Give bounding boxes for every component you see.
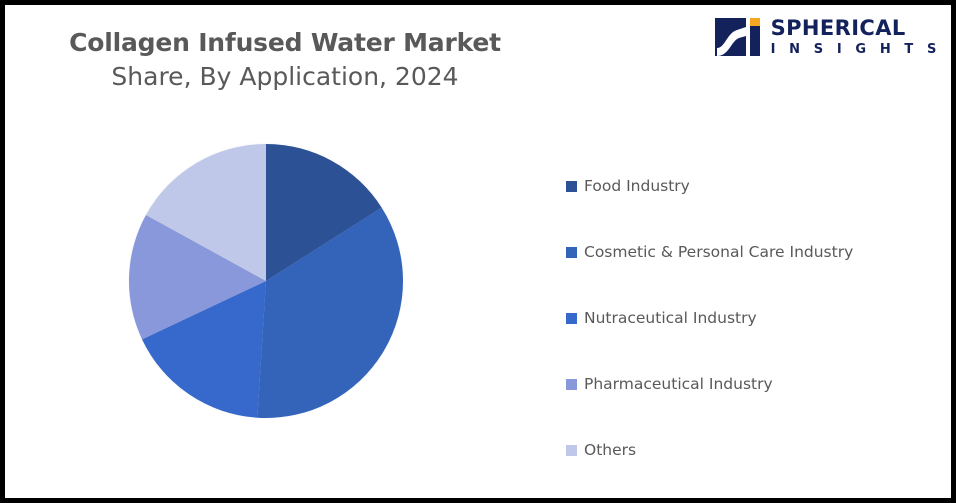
legend-item-label: Cosmetic & Personal Care Industry	[584, 243, 853, 261]
legend-item[interactable]: Food Industry	[566, 153, 936, 219]
legend-item-label: Pharmaceutical Industry	[584, 375, 773, 393]
pie-slice-group	[129, 144, 403, 418]
legend-item[interactable]: Nutraceutical Industry	[566, 285, 936, 351]
chart-title-line-2: Share, By Application, 2024	[35, 61, 535, 92]
legend-item[interactable]: Pharmaceutical Industry	[566, 351, 936, 417]
legend-item-label: Nutraceutical Industry	[584, 309, 757, 327]
chart-canvas: Collagen Infused Water Market Share, By …	[0, 0, 956, 503]
legend-item[interactable]: Cosmetic & Personal Care Industry	[566, 219, 936, 285]
legend-color-swatch	[566, 445, 577, 456]
chart-title-line-1: Collagen Infused Water Market	[35, 27, 535, 58]
pie-chart	[117, 131, 413, 427]
legend-item[interactable]: Others	[566, 417, 936, 483]
legend-color-swatch	[566, 247, 577, 258]
pie-chart-svg	[117, 131, 413, 427]
logo-mark-icon	[715, 15, 763, 59]
spherical-insights-logo: SPHERICAL I N S I G H T S	[715, 15, 941, 59]
legend-color-swatch	[566, 379, 577, 390]
legend-item-label: Food Industry	[584, 177, 690, 195]
legend-color-swatch	[566, 181, 577, 192]
chart-legend: Food IndustryCosmetic & Personal Care In…	[566, 153, 936, 483]
logo-wordmark: SPHERICAL I N S I G H T S	[771, 18, 941, 56]
legend-item-label: Others	[584, 441, 636, 459]
logo-subtitle: I N S I G H T S	[771, 43, 941, 56]
chart-title: Collagen Infused Water Market Share, By …	[35, 27, 535, 93]
logo-name: SPHERICAL	[771, 18, 941, 39]
legend-color-swatch	[566, 313, 577, 324]
